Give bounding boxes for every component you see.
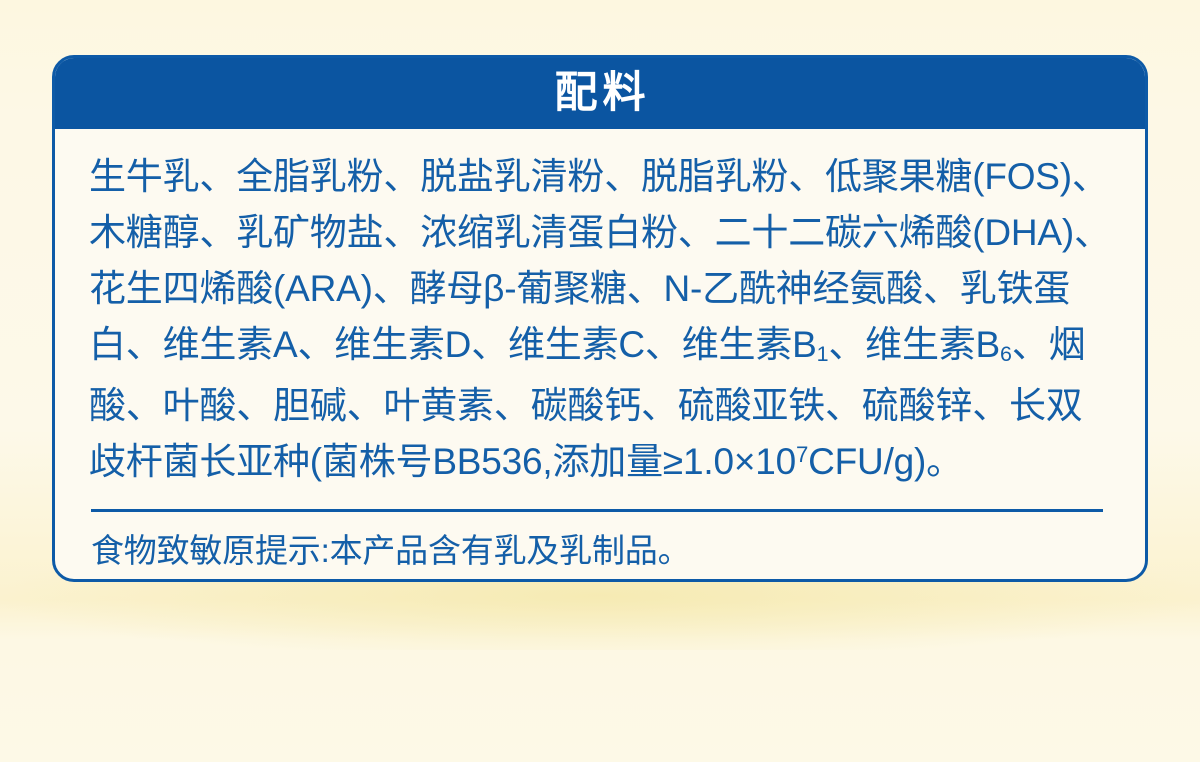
- ingredients-text-run: CFU/g)。: [808, 441, 963, 482]
- ingredients-panel: 配料 生牛乳、全脂乳粉、脱盐乳清粉、脱脂乳粉、低聚果糖(FOS)、木糖醇、乳矿物…: [52, 55, 1148, 582]
- ingredients-list-text: 生牛乳、全脂乳粉、脱盐乳清粉、脱脂乳粉、低聚果糖(FOS)、木糖醇、乳矿物盐、浓…: [89, 149, 1111, 495]
- panel-header: 配料: [54, 57, 1146, 129]
- ingredients-text-run: 、维生素B: [828, 324, 1000, 365]
- allergen-notice: 食物致敏原提示:本产品含有乳及乳制品。: [89, 512, 1111, 574]
- ingredients-text-run: 6: [1000, 342, 1012, 366]
- ingredients-text-run: 1: [817, 342, 829, 366]
- ingredients-text-run: 7: [796, 442, 808, 467]
- panel-header-title: 配料: [550, 72, 651, 115]
- panel-body: 生牛乳、全脂乳粉、脱盐乳清粉、脱脂乳粉、低聚果糖(FOS)、木糖醇、乳矿物盐、浓…: [55, 129, 1145, 574]
